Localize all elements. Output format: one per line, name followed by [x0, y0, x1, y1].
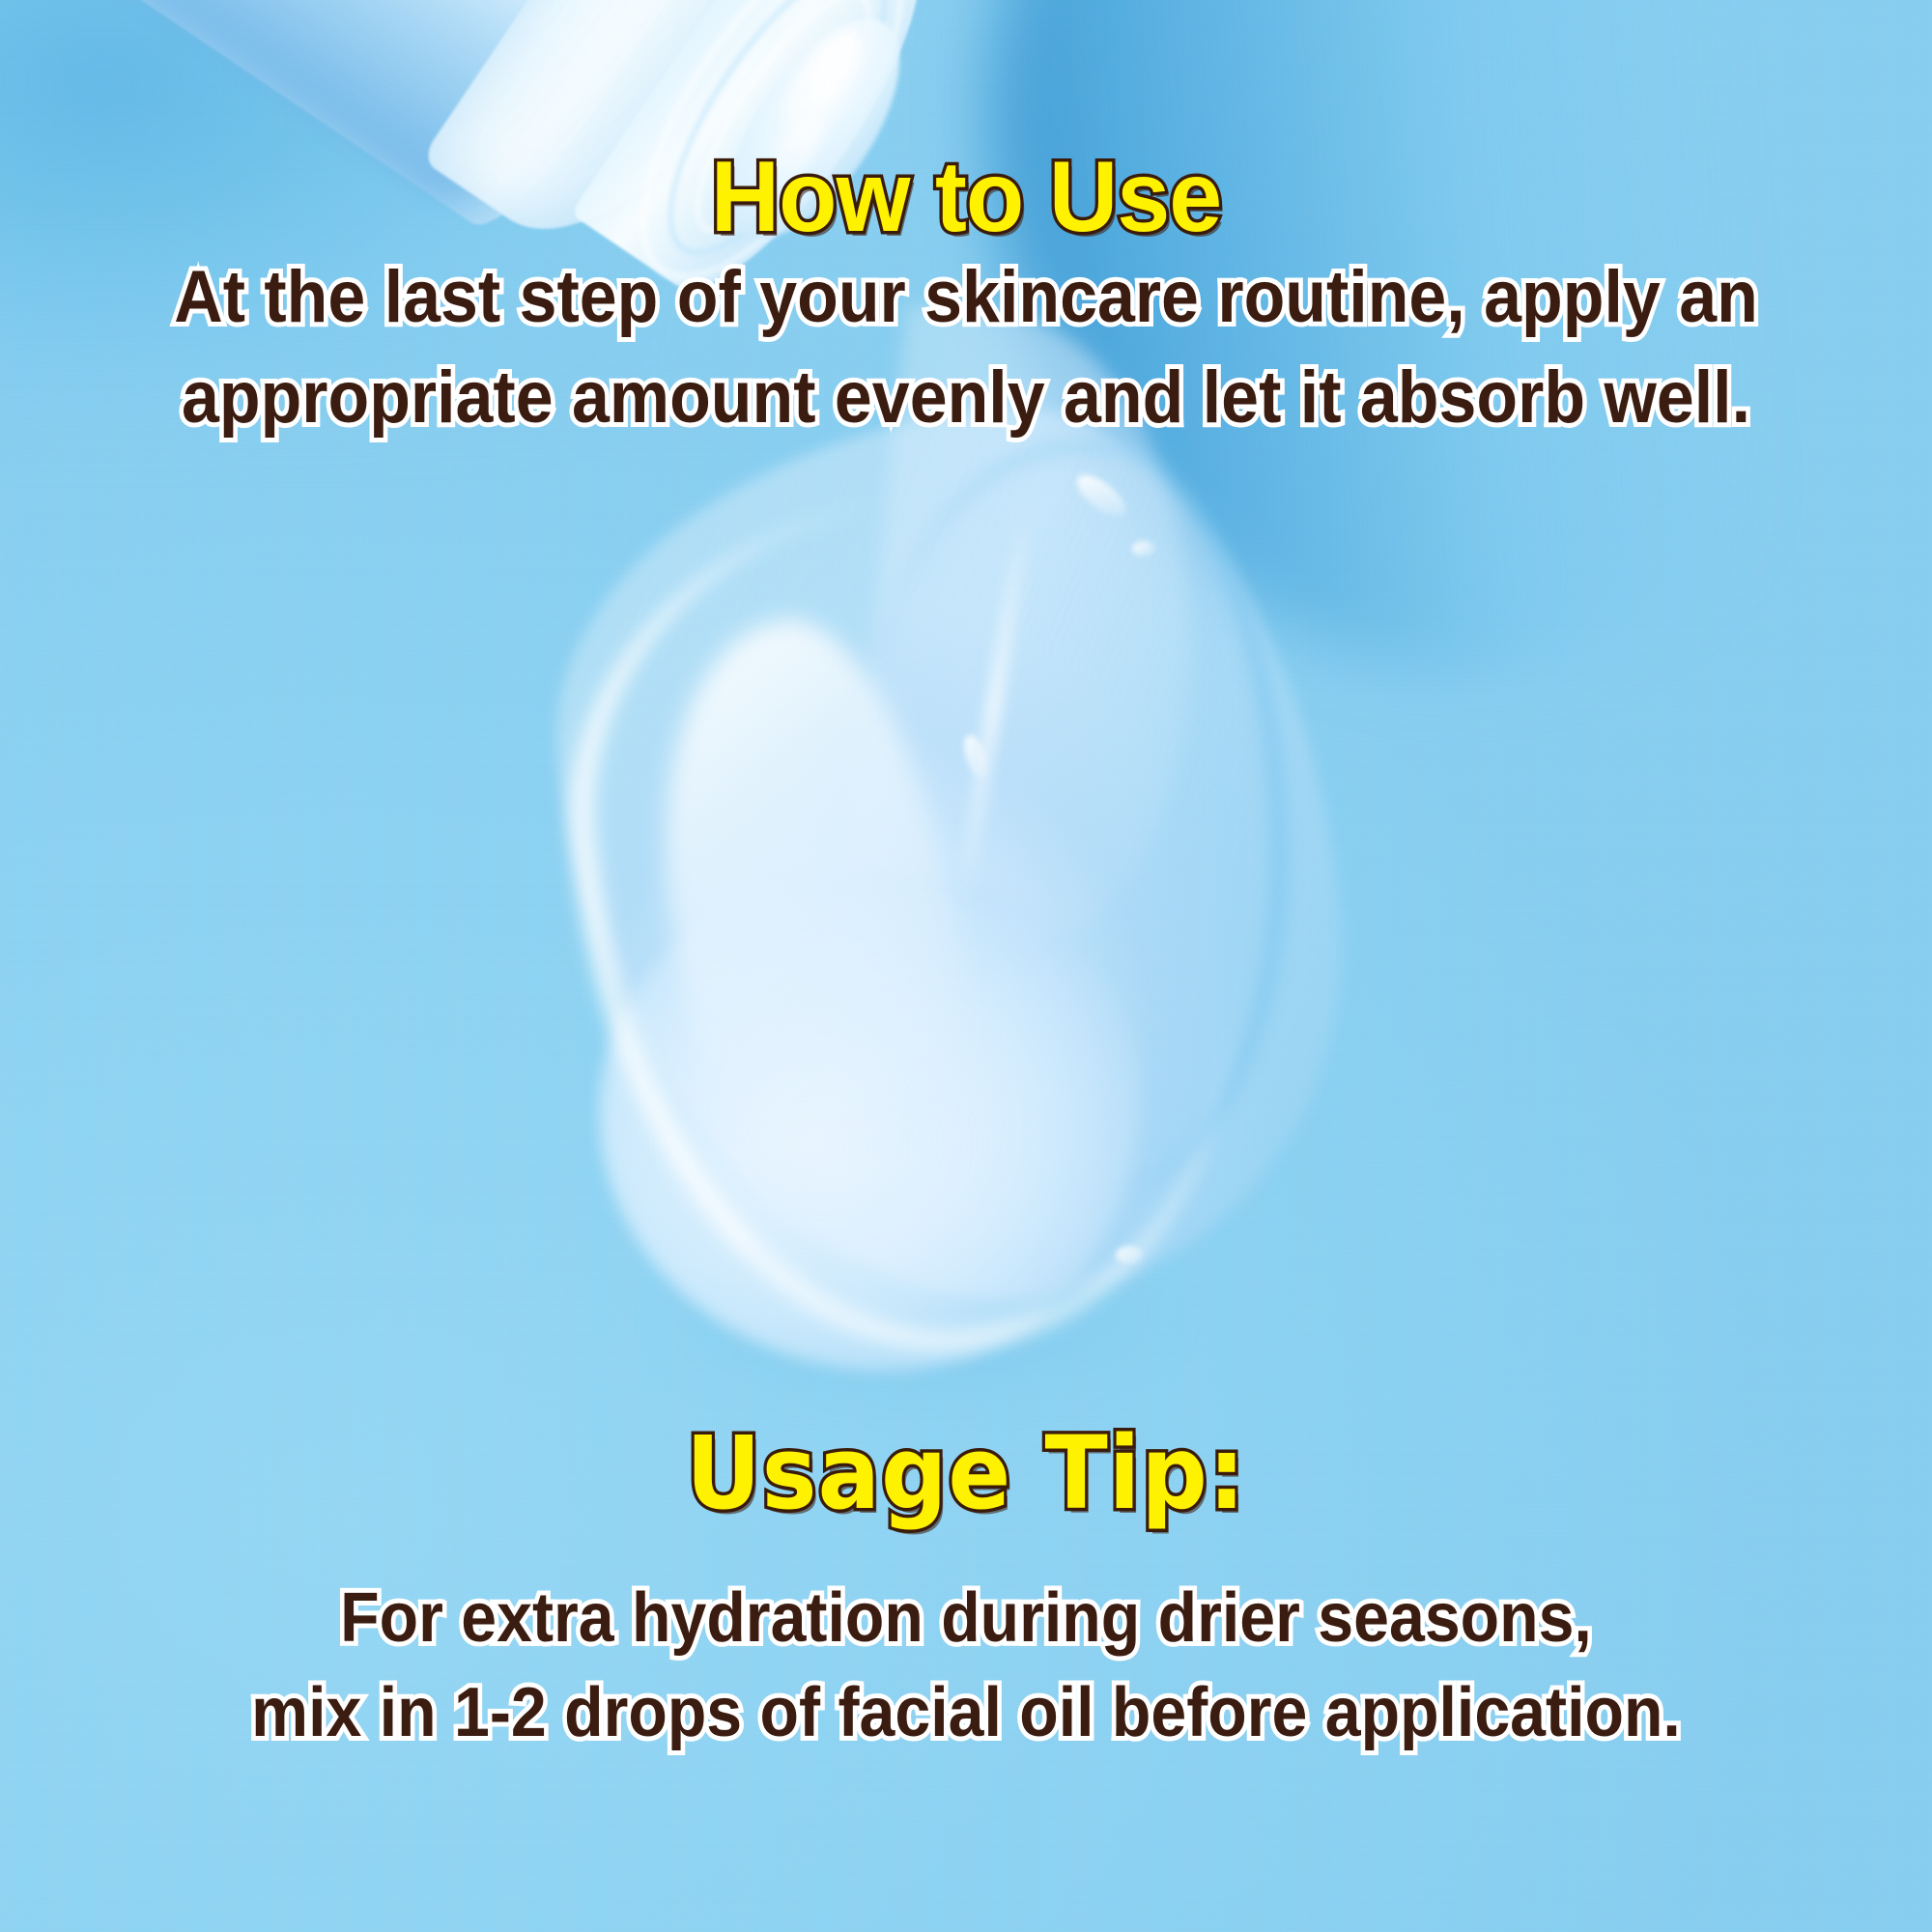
intro-paragraph: At the last step of your skincare routin…	[0, 247, 1932, 448]
tip-line-1: For extra hydration during drier seasons…	[77, 1571, 1855, 1665]
text-layer: How to Use At the last step of your skin…	[0, 0, 1932, 1932]
how-to-use-infographic: How to Use At the last step of your skin…	[0, 0, 1932, 1932]
intro-line-1: At the last step of your skincare routin…	[77, 247, 1855, 348]
heading-usage-tip: Usage Tip:	[77, 1419, 1855, 1527]
usage-tip-paragraph: For extra hydration during drier seasons…	[0, 1571, 1932, 1760]
intro-line-2: appropriate amount evenly and let it abs…	[77, 348, 1855, 448]
heading-how-to-use: How to Use	[48, 143, 1884, 251]
tip-line-2: mix in 1-2 drops of facial oil before ap…	[77, 1665, 1855, 1760]
